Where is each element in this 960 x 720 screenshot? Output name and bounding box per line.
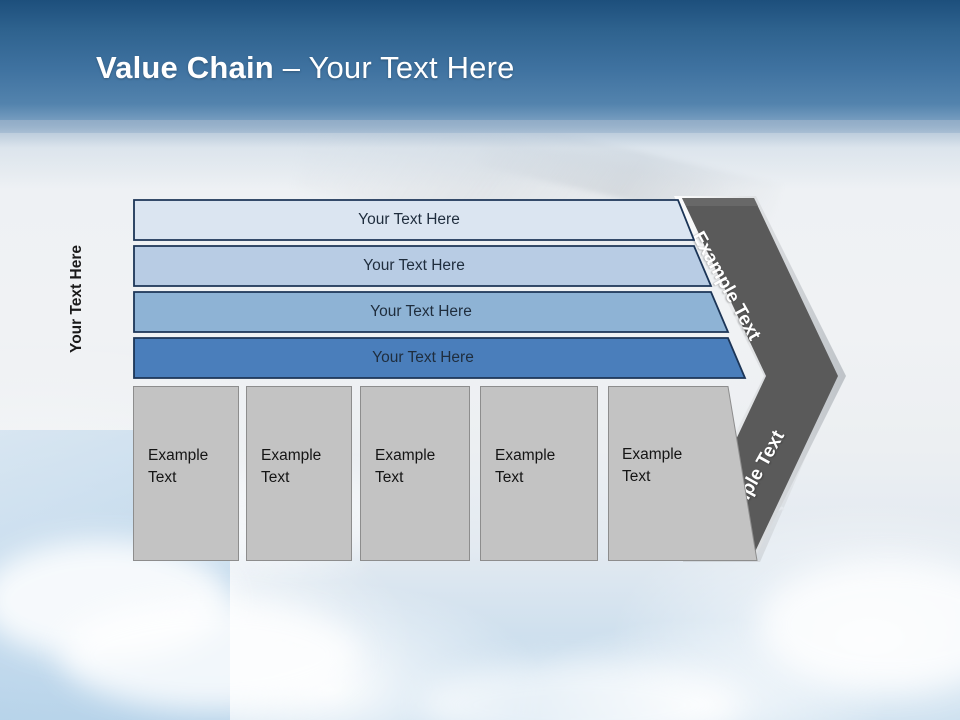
bar-label: Your Text Here	[370, 303, 472, 321]
bar-row[interactable]: Your Text Here	[133, 337, 773, 379]
primary-activity-box[interactable]: ExampleText	[133, 386, 239, 561]
primary-activity-text: ExampleText	[622, 444, 682, 488]
primary-activity-text: ExampleText	[375, 445, 435, 489]
primary-activity-text: ExampleText	[148, 445, 208, 489]
slide-canvas: Value Chain – Your Text Here ExampleText…	[0, 0, 960, 720]
primary-activity-box[interactable]: ExampleText	[246, 386, 352, 561]
bar-row[interactable]: Your Text Here	[133, 291, 753, 333]
primary-activity-box[interactable]: ExampleText	[360, 386, 470, 561]
bar-row[interactable]: Your Text Here	[133, 245, 723, 287]
bar-row[interactable]: Your Text Here	[133, 199, 695, 241]
primary-activity-text: ExampleText	[495, 445, 555, 489]
support-activity-bars: Your Text Here Your Text Here Your Text …	[0, 0, 960, 720]
bar-label: Your Text Here	[358, 211, 460, 229]
primary-activity-text: ExampleText	[261, 445, 321, 489]
bar-label: Your Text Here	[363, 257, 465, 275]
primary-activity-box[interactable]: ExampleText	[480, 386, 598, 561]
primary-activity-box[interactable]: ExampleText	[608, 386, 758, 561]
bar-label: Your Text Here	[372, 349, 474, 367]
